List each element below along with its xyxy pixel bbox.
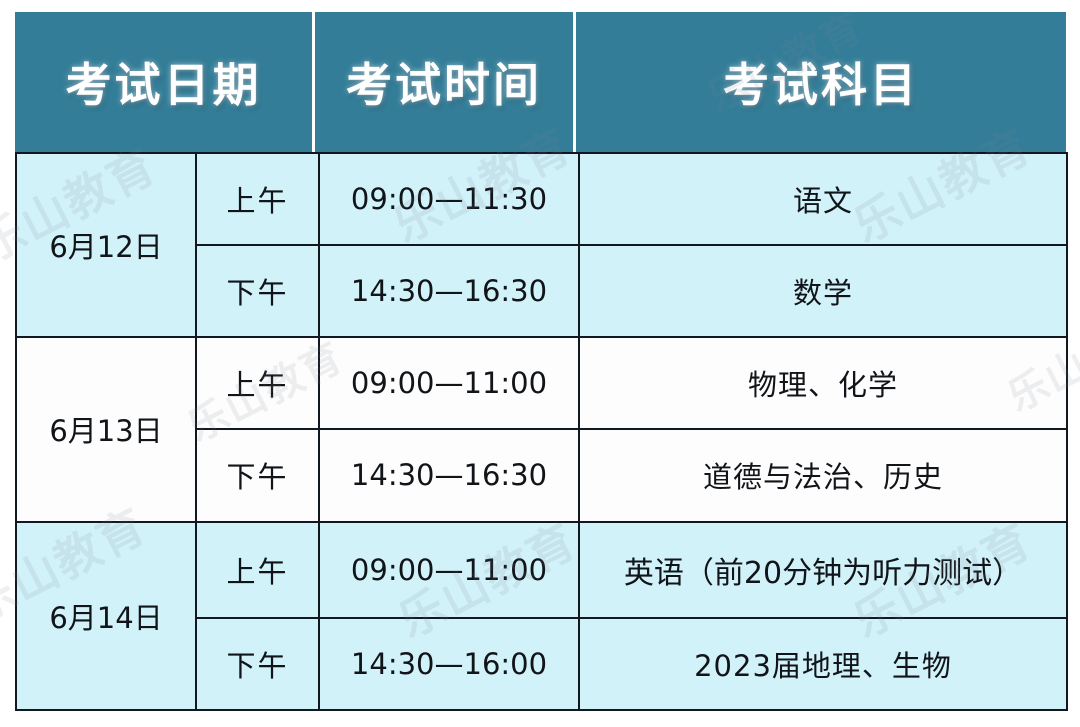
cell-time: 14:30—16:00 <box>319 618 579 710</box>
cell-time: 09:00—11:30 <box>319 153 579 245</box>
header-cell-date: 考试日期 <box>15 12 312 152</box>
cell-period: 上午 <box>196 522 319 618</box>
cell-period: 上午 <box>196 337 319 429</box>
header-cell-time: 考试时间 <box>315 12 573 152</box>
cell-date: 6月12日 <box>16 153 196 337</box>
exam-schedule-table: 考试日期 考试时间 考试科目 6月12日 上午 09:00—11:30 语文 下… <box>0 0 1080 727</box>
table-row: 6月14日 上午 09:00—11:00 英语（前20分钟为听力测试） <box>16 522 1067 618</box>
cell-subject: 物理、化学 <box>579 337 1067 429</box>
table-row: 6月12日 上午 09:00—11:30 语文 <box>16 153 1067 245</box>
header-label-time: 考试时间 <box>346 49 542 115</box>
cell-time: 14:30—16:30 <box>319 429 579 521</box>
cell-subject: 道德与法治、历史 <box>579 429 1067 521</box>
cell-date: 6月14日 <box>16 522 196 711</box>
cell-period: 下午 <box>196 618 319 710</box>
cell-time: 14:30—16:30 <box>319 245 579 337</box>
table-header-row: 考试日期 考试时间 考试科目 <box>15 12 1066 152</box>
cell-date: 6月13日 <box>16 337 196 521</box>
cell-period: 下午 <box>196 245 319 337</box>
cell-subject: 英语（前20分钟为听力测试） <box>579 522 1067 618</box>
cell-period: 上午 <box>196 153 319 245</box>
header-label-date: 考试日期 <box>66 49 262 115</box>
header-cell-subject: 考试科目 <box>576 12 1066 152</box>
cell-subject: 语文 <box>579 153 1067 245</box>
cell-time: 09:00—11:00 <box>319 337 579 429</box>
header-label-subject: 考试科目 <box>723 49 919 115</box>
table-row: 6月13日 上午 09:00—11:00 物理、化学 <box>16 337 1067 429</box>
cell-time: 09:00—11:00 <box>319 522 579 618</box>
cell-subject: 数学 <box>579 245 1067 337</box>
cell-subject: 2023届地理、生物 <box>579 618 1067 710</box>
schedule-body: 6月12日 上午 09:00—11:30 语文 下午 14:30—16:30 数… <box>15 152 1068 711</box>
cell-period: 下午 <box>196 429 319 521</box>
